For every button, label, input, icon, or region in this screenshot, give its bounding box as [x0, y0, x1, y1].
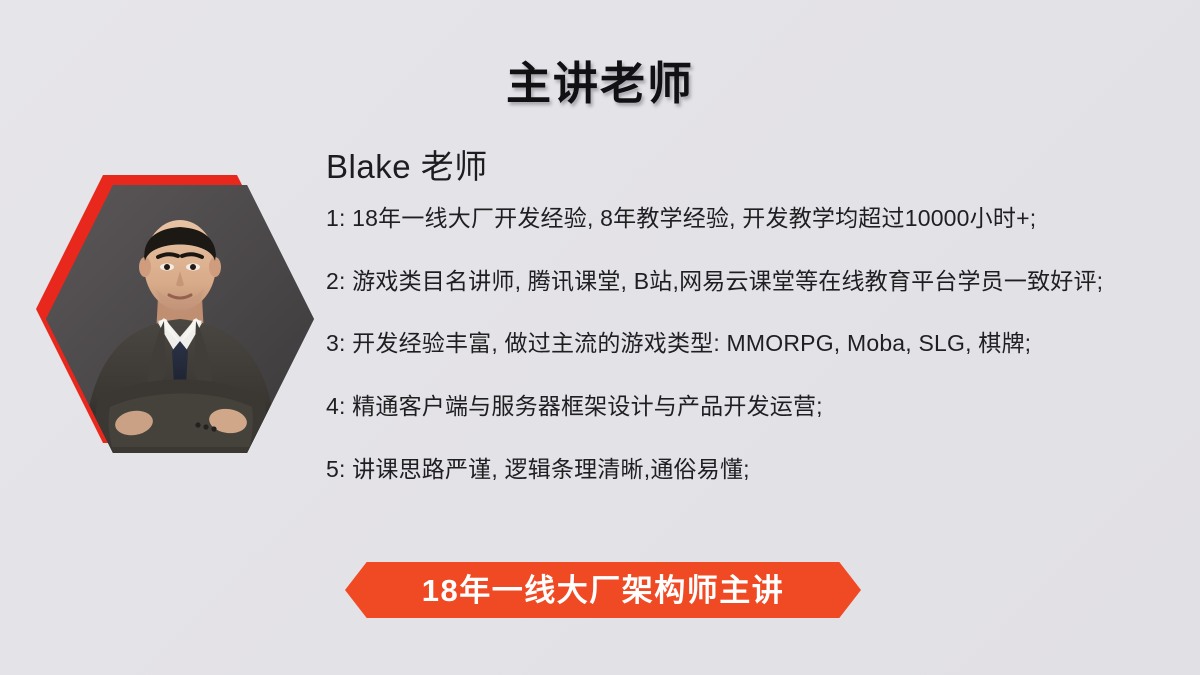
page-title: 主讲老师 [0, 58, 1200, 110]
credential-list: 1: 18年一线大厂开发经验, 8年教学经验, 开发教学均超过10000小时+;… [326, 205, 1171, 483]
instructor-info: Blake 老师 1: 18年一线大厂开发经验, 8年教学经验, 开发教学均超过… [326, 146, 1171, 518]
list-item: 5: 讲课思路严谨, 逻辑条理清晰,通俗易懂; [326, 456, 1171, 484]
list-item: 4: 精通客户端与服务器框架设计与产品开发运营; [326, 393, 1171, 421]
list-item: 3: 开发经验丰富, 做过主流的游戏类型: MMORPG, Moba, SLG,… [326, 330, 1171, 358]
instructor-name: Blake 老师 [326, 146, 1171, 187]
slide-canvas: 主讲老师 [0, 0, 1200, 675]
highlight-ribbon-banner: 18年一线大厂架构师主讲 [345, 562, 861, 618]
list-item: 2: 游戏类目名讲师, 腾讯课堂, B站,网易云课堂等在线教育平台学员一致好评; [326, 268, 1171, 296]
list-item: 1: 18年一线大厂开发经验, 8年教学经验, 开发教学均超过10000小时+; [326, 205, 1171, 233]
instructor-portrait [36, 175, 320, 465]
ribbon-label: 18年一线大厂架构师主讲 [422, 575, 784, 606]
